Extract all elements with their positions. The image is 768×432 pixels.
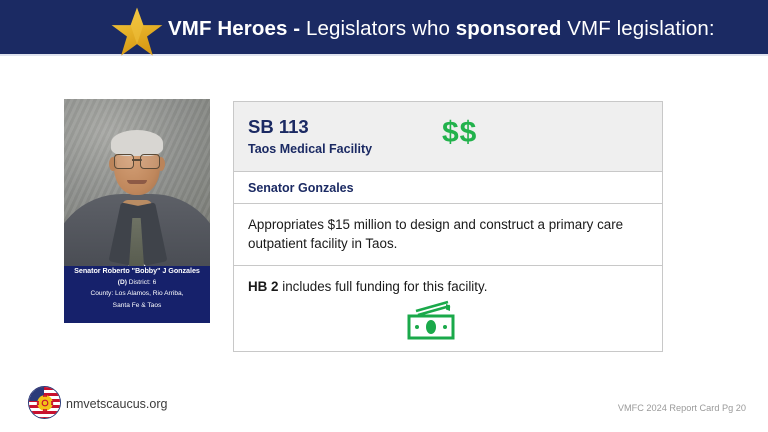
bill-sponsor-row: Senator Gonzales [234,172,662,204]
bill-summary-row: Appropriates $15 million to design and c… [234,204,662,266]
bill-note-row: HB 2 includes full funding for this faci… [234,266,662,351]
footer-website-url[interactable]: nmvetscaucus.org [66,396,167,412]
funding-dollar-symbol: $$ [442,116,477,150]
caption-county-line-1: County: Los Alamos, Rio Arriba, [64,288,210,300]
money-bills-icon [402,299,462,341]
caption-county-line-2: Santa Fe & Taos [64,300,210,312]
sponsor-name: Senator Gonzales [248,180,662,197]
senator-portrait-photo [64,99,210,266]
bill-note-text: HB 2 includes full funding for this faci… [248,277,648,296]
banner-title-bold: VMF Heroes [168,17,287,40]
banner-title-rest-2: VMF legislation: [561,17,714,40]
bill-note-bold: HB 2 [248,279,279,294]
banner-title-bold-2: sponsored [456,17,562,40]
caption-party: (D) [118,279,127,286]
bill-info-card: SB 113 Taos Medical Facility $$ Senator … [233,101,663,352]
nm-veterans-caucus-flag-logo[interactable] [28,386,61,419]
page-title: VMF Heroes - Legislators who sponsored V… [168,14,715,44]
bill-note-rest: includes full funding for this facility. [279,279,488,294]
footer-page-note: VMFC 2024 Report Card Pg 20 [618,402,746,414]
bill-summary-text: Appropriates $15 million to design and c… [248,215,644,253]
caption-name: Senator Roberto "Bobby" J Gonzales [64,265,210,277]
banner-title-rest-1: Legislators who [306,17,456,40]
legislator-photo-card: Senator Roberto "Bobby" J Gonzales (D) D… [64,99,210,323]
caption-party-district: (D) District: 6 [64,277,210,289]
banner-title-dash: - [287,17,306,40]
gold-star-icon [110,6,164,60]
caption-district: District: 6 [127,279,156,286]
bill-header-row: SB 113 Taos Medical Facility $$ [234,102,662,172]
legislator-caption: Senator Roberto "Bobby" J Gonzales (D) D… [64,264,210,323]
